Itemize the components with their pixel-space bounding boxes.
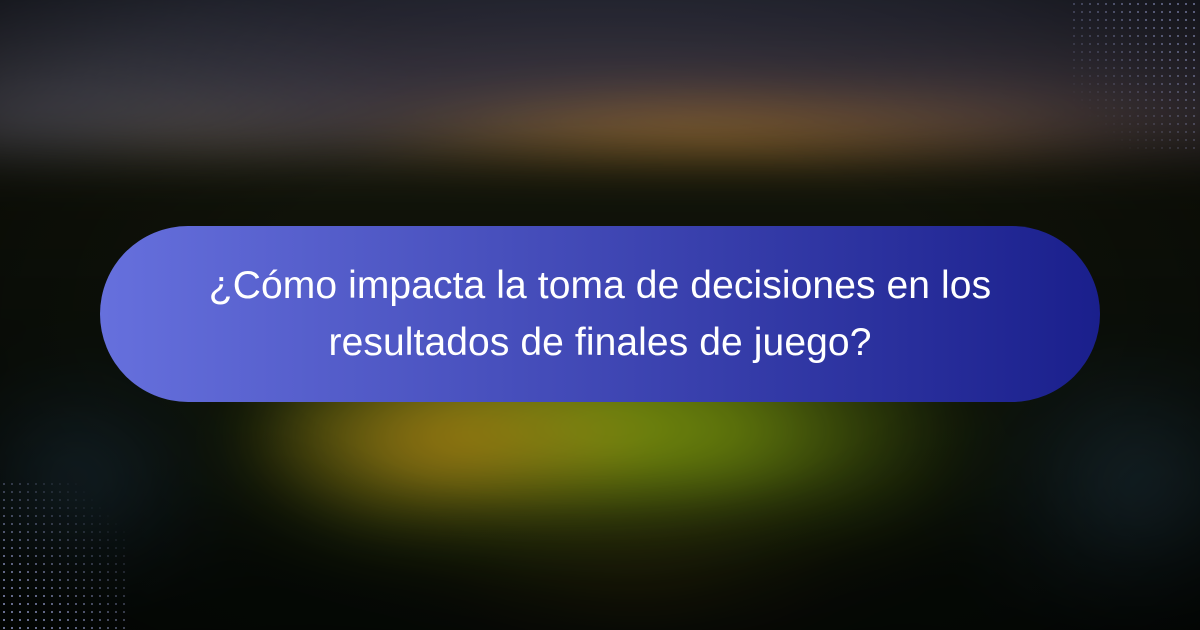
- background-horizon-glow: [230, 98, 1180, 218]
- screenshot-canvas: ¿Cómo impacta la toma de decisiones en l…: [0, 0, 1200, 630]
- background-skyline-silhouette: [0, 158, 1200, 226]
- background-light-spot-right: [758, 68, 1200, 203]
- question-pill: ¿Cómo impacta la toma de decisiones en l…: [100, 226, 1100, 402]
- background-pitch-shadow: [336, 480, 943, 630]
- background-sunset-glow: [336, 68, 1154, 248]
- question-title: ¿Cómo impacta la toma de decisiones en l…: [205, 257, 995, 371]
- background-light-spot-left: [6, 113, 402, 226]
